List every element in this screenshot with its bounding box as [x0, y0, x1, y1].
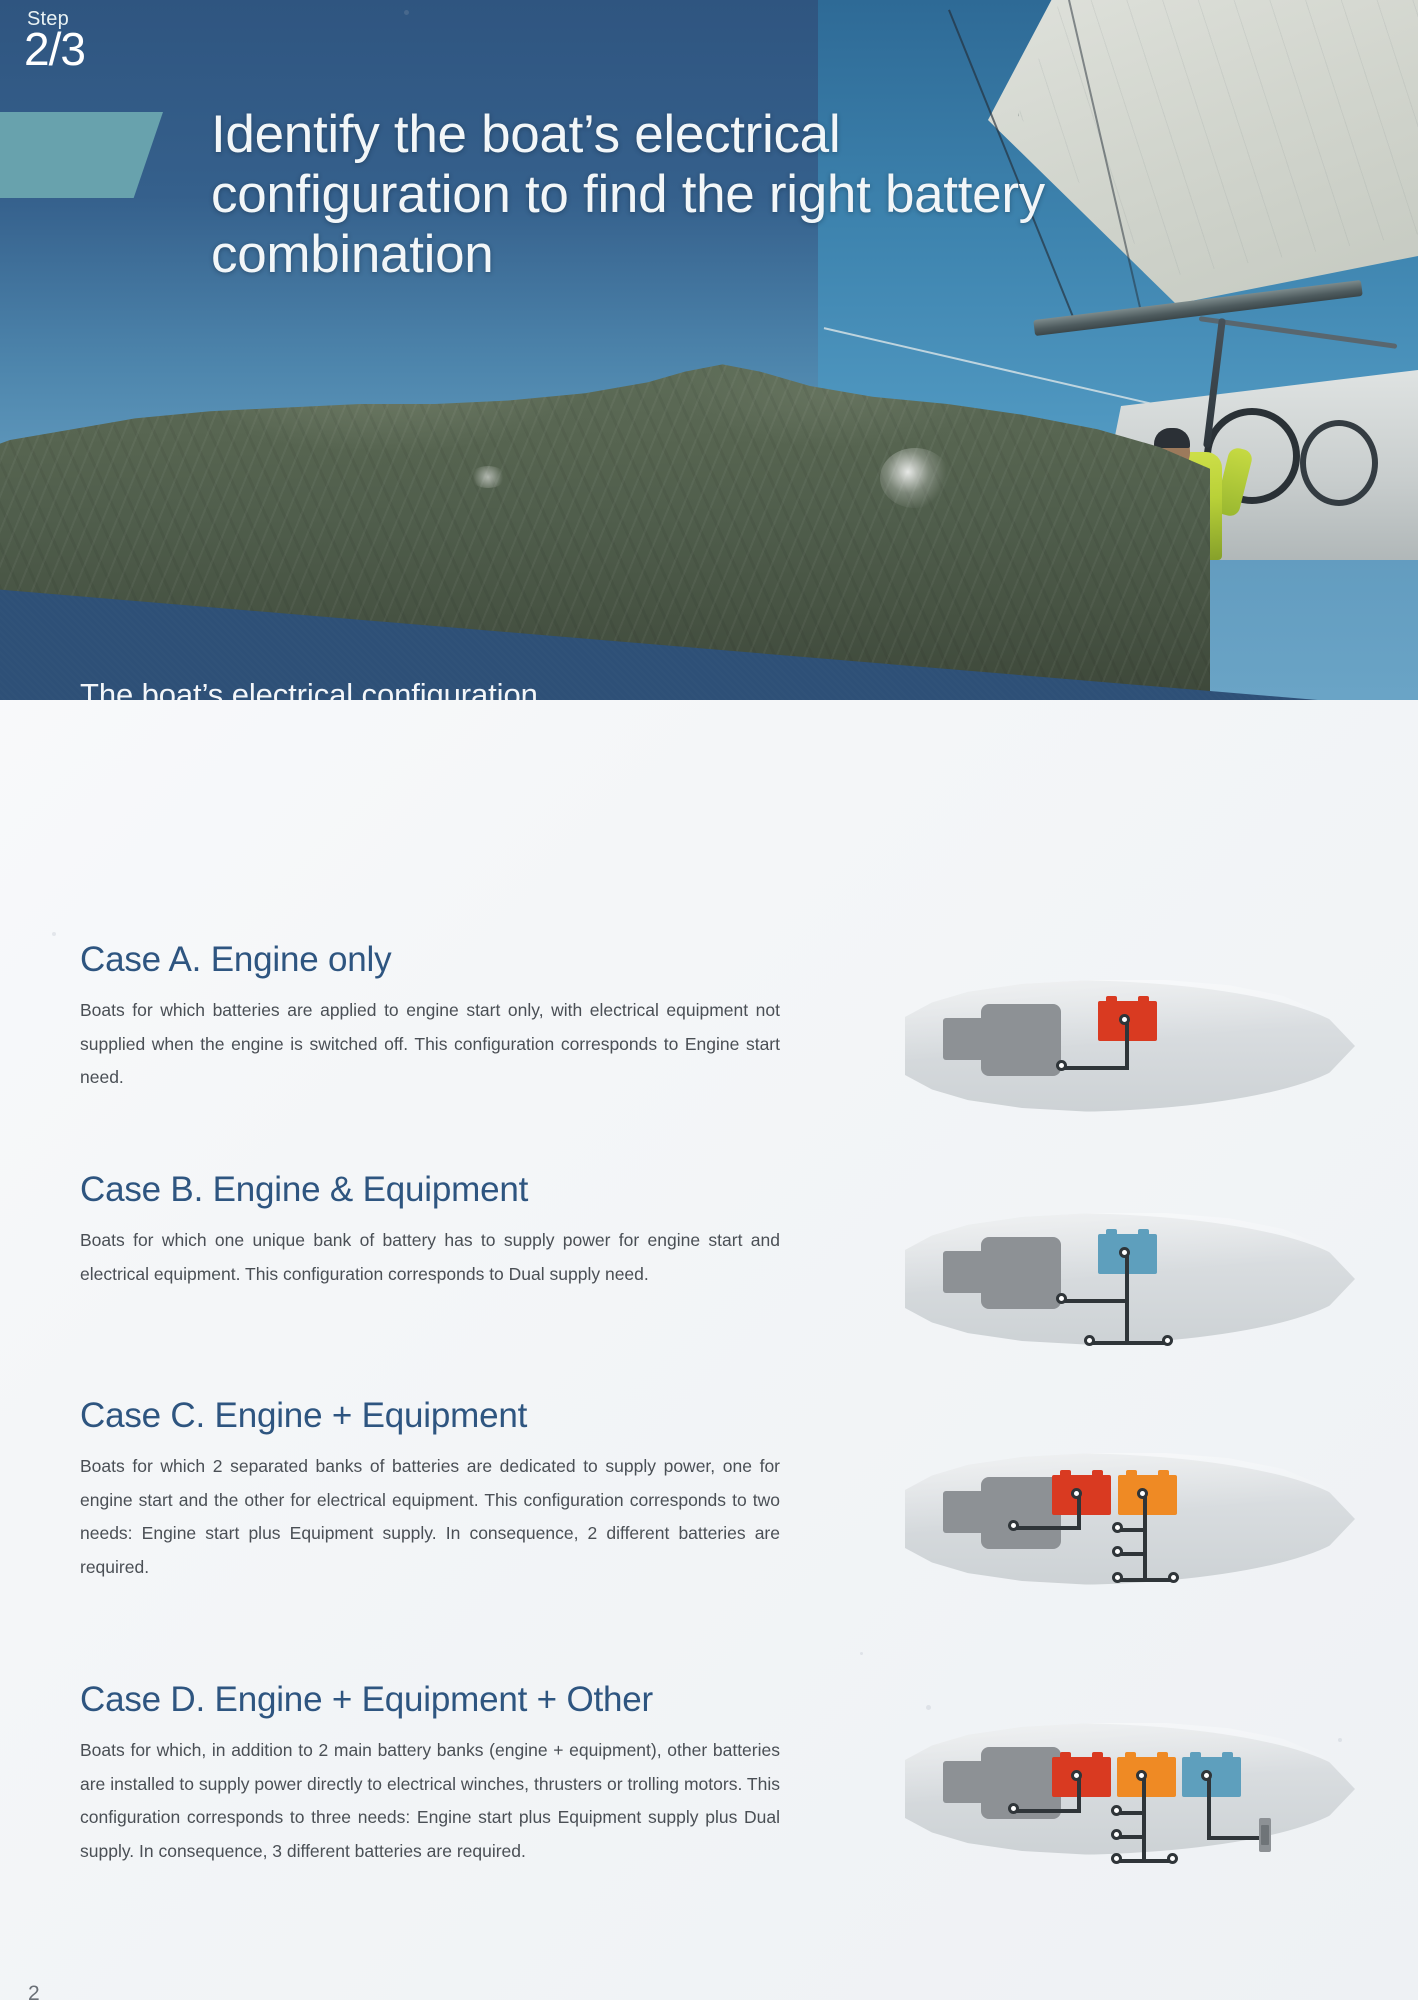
winch-thruster-device — [1259, 1818, 1271, 1852]
wire-blue-riser — [1207, 1776, 1211, 1839]
boat-diagram-engine-plus-equipment — [885, 1425, 1355, 1615]
page-title: Identify the boat’s electrical configura… — [211, 105, 1111, 285]
terminal-engine — [1008, 1520, 1019, 1531]
wire-red-riser — [1077, 1776, 1081, 1813]
case-c-body: Boats for which 2 separated banks of bat… — [80, 1450, 780, 1584]
terminal-branch-3-left — [1112, 1572, 1123, 1583]
wire-branch-3 — [1119, 1578, 1175, 1582]
terminal-branch-3-right — [1168, 1572, 1179, 1583]
engine-housing — [981, 1004, 1061, 1076]
terminal-engine — [1056, 1293, 1067, 1304]
case-b-title: Case B. Engine & Equipment — [80, 1170, 780, 1210]
terminal-battery-blue — [1201, 1770, 1212, 1781]
terminal-battery-blue — [1119, 1247, 1130, 1258]
wire-blue-to-device — [1207, 1836, 1267, 1840]
engine-housing — [981, 1477, 1061, 1549]
case-c-title: Case C. Engine + Equipment — [80, 1396, 780, 1436]
hero-banner: Step 2/3 Identify the boat’s electrical … — [0, 0, 1418, 700]
water-spray — [880, 448, 950, 508]
case-b-body: Boats for which one unique bank of batte… — [80, 1224, 780, 1291]
wire-branch-2 — [1119, 1552, 1147, 1556]
wire-equipment-bus — [1091, 1341, 1169, 1345]
wire-battery-trunk — [1125, 1252, 1129, 1345]
terminal-branch-2 — [1111, 1829, 1122, 1840]
terminal-branch-3-right — [1167, 1853, 1178, 1864]
water-spray-small — [470, 466, 506, 488]
case-a-title: Case A. Engine only — [80, 940, 780, 980]
terminal-engine — [1056, 1060, 1067, 1071]
wire-branch-2 — [1118, 1835, 1146, 1839]
terminal-battery-orange — [1136, 1770, 1147, 1781]
step-number: 2/3 — [24, 26, 85, 72]
engine-housing — [981, 1237, 1061, 1309]
wire-orange-trunk — [1143, 1493, 1147, 1582]
brochure-page: Step 2/3 Identify the boat’s electrical … — [0, 0, 1418, 2000]
terminal-battery-red — [1071, 1770, 1082, 1781]
hero-subtitle: The boat’s electrical configuration dete… — [80, 676, 640, 700]
terminal-battery-red — [1119, 1014, 1130, 1025]
secondary-wheel — [1300, 420, 1378, 506]
case-b-block: Case B. Engine & Equipment Boats for whi… — [80, 1170, 780, 1291]
case-d-block: Case D. Engine + Equipment + Other Boats… — [80, 1680, 780, 1868]
terminal-branch-1 — [1112, 1522, 1123, 1533]
terminal-branch-2 — [1112, 1546, 1123, 1557]
terminal-equipment-left — [1084, 1335, 1095, 1346]
terminal-battery-orange — [1137, 1488, 1148, 1499]
wire-engine-to-battery — [1015, 1809, 1081, 1813]
boat-diagram-engine-equipment-other — [885, 1695, 1355, 1885]
wire-branch-1 — [1118, 1811, 1146, 1815]
wire-engine-to-battery — [1063, 1066, 1129, 1070]
terminal-engine — [1008, 1803, 1019, 1814]
case-d-body: Boats for which, in addition to 2 main b… — [80, 1734, 780, 1868]
case-a-body: Boats for which batteries are applied to… — [80, 994, 780, 1095]
boat-diagram-engine-and-equipment — [885, 1185, 1355, 1375]
case-d-title: Case D. Engine + Equipment + Other — [80, 1680, 780, 1720]
boat-diagram-engine-only — [885, 952, 1355, 1142]
wire-branch-1 — [1119, 1528, 1147, 1532]
wire-engine-to-bus — [1063, 1299, 1129, 1303]
terminal-branch-3-left — [1111, 1853, 1122, 1864]
wire-battery-riser — [1125, 1019, 1129, 1070]
terminal-equipment-right — [1162, 1335, 1173, 1346]
wire-branch-3 — [1118, 1859, 1174, 1863]
terminal-branch-1 — [1111, 1805, 1122, 1816]
case-a-block: Case A. Engine only Boats for which batt… — [80, 940, 780, 1095]
wire-orange-trunk — [1142, 1776, 1146, 1863]
page-number: 2 — [28, 1982, 40, 2000]
wire-engine-to-battery — [1015, 1526, 1081, 1530]
case-c-block: Case C. Engine + Equipment Boats for whi… — [80, 1396, 780, 1584]
terminal-battery-red — [1071, 1488, 1082, 1499]
cases-section: Case A. Engine only Boats for which batt… — [0, 880, 1418, 2000]
